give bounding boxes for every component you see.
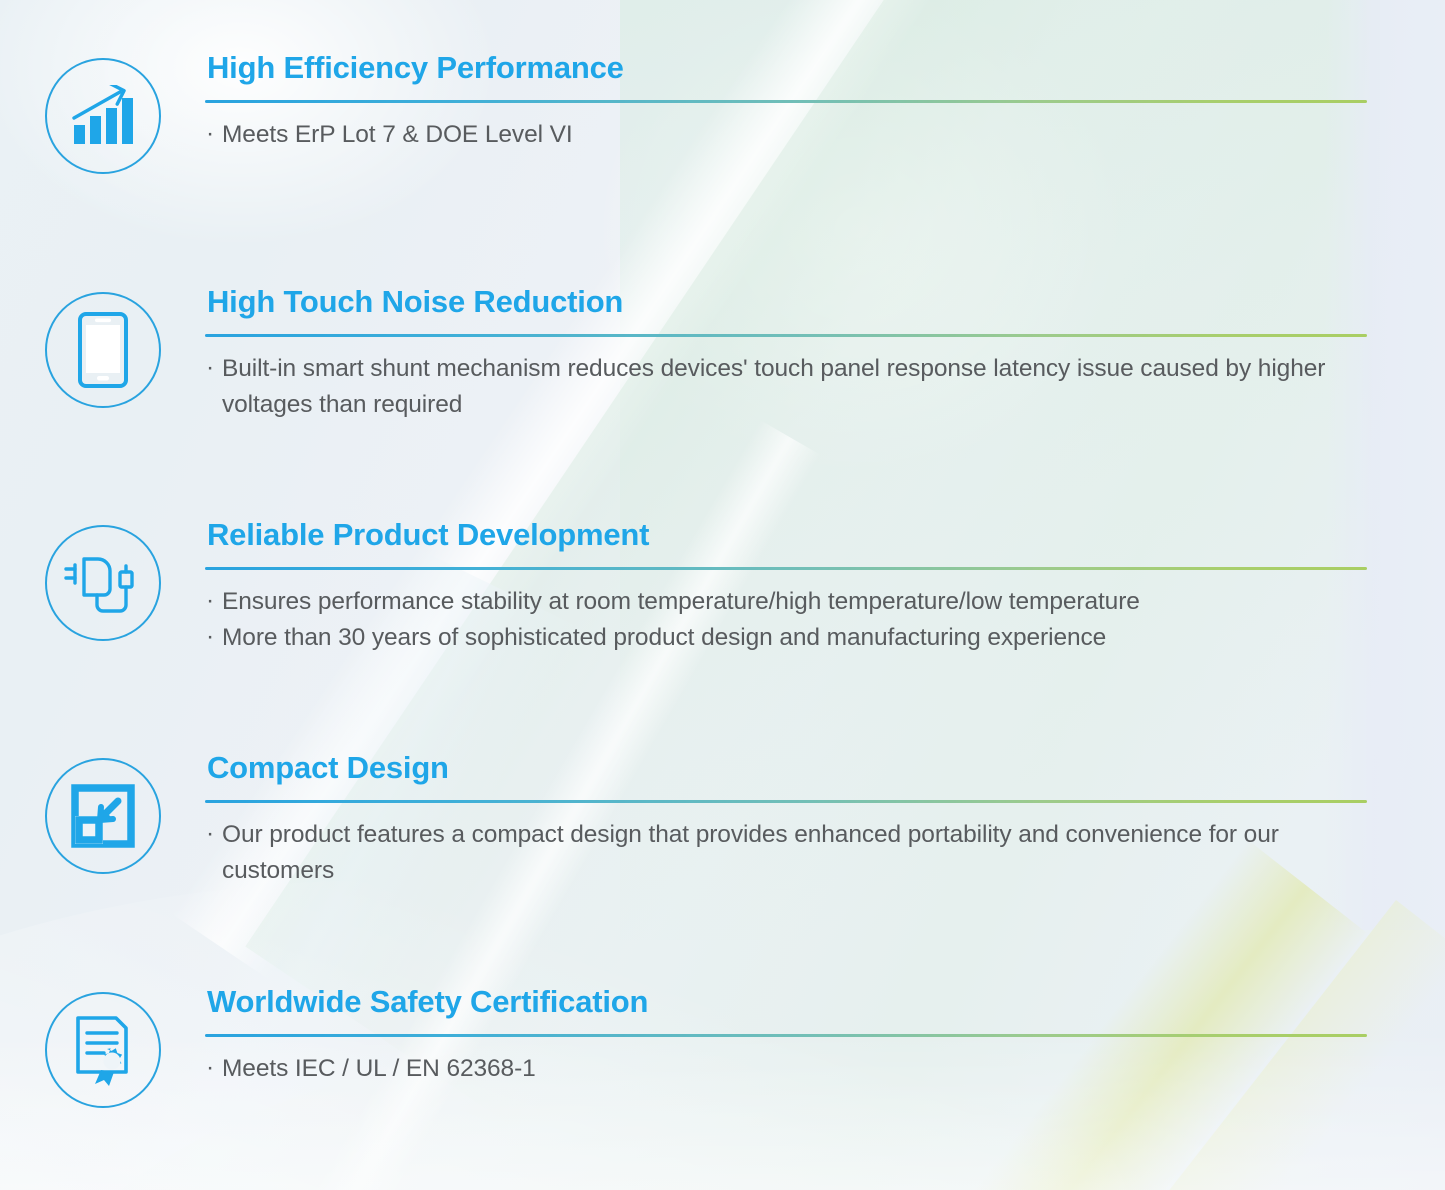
feature-icon-slot <box>0 52 205 174</box>
feature-text-block: Compact Design Our product features a co… <box>205 752 1445 889</box>
feature-bullet: Ensures performance stability at room te… <box>205 584 1367 620</box>
bar-chart-growth-icon <box>45 58 161 174</box>
feature-title: Compact Design <box>205 752 1367 800</box>
feature-icon-slot <box>0 752 205 874</box>
feature-icon-slot <box>0 519 205 641</box>
feature-highlights-page: High Efficiency Performance Meets ErP Lo… <box>0 0 1445 1190</box>
feature-title: High Efficiency Performance <box>205 52 1367 100</box>
feature-item-reliable-product-development: Reliable Product Development Ensures per… <box>0 519 1445 656</box>
feature-item-high-efficiency-performance: High Efficiency Performance Meets ErP Lo… <box>0 52 1445 174</box>
feature-text-block: Worldwide Safety Certification Meets IEC… <box>205 986 1445 1087</box>
certificate-seal-icon <box>45 992 161 1108</box>
feature-title: High Touch Noise Reduction <box>205 286 1367 334</box>
feature-bullet: Meets ErP Lot 7 & DOE Level VI <box>205 117 1367 153</box>
feature-icon-slot <box>0 286 205 408</box>
feature-icon-slot <box>0 986 205 1108</box>
feature-item-compact-design: Compact Design Our product features a co… <box>0 752 1445 889</box>
feature-bullet: More than 30 years of sophisticated prod… <box>205 620 1367 656</box>
feature-text-block: High Efficiency Performance Meets ErP Lo… <box>205 52 1445 153</box>
compact-resize-icon <box>45 758 161 874</box>
features-list: High Efficiency Performance Meets ErP Lo… <box>0 0 1445 1190</box>
feature-item-worldwide-safety-certification: Worldwide Safety Certification Meets IEC… <box>0 986 1445 1108</box>
feature-title: Reliable Product Development <box>205 519 1367 567</box>
feature-bullet-list: Ensures performance stability at room te… <box>205 570 1367 656</box>
feature-item-high-touch-noise-reduction: High Touch Noise Reduction Built-in smar… <box>0 286 1445 423</box>
feature-text-block: High Touch Noise Reduction Built-in smar… <box>205 286 1445 423</box>
feature-bullet: Built-in smart shunt mechanism reduces d… <box>205 351 1367 423</box>
feature-bullet-list: Meets IEC / UL / EN 62368-1 <box>205 1037 1367 1087</box>
feature-title: Worldwide Safety Certification <box>205 986 1367 1034</box>
feature-bullet: Meets IEC / UL / EN 62368-1 <box>205 1051 1367 1087</box>
feature-bullet-list: Meets ErP Lot 7 & DOE Level VI <box>205 103 1367 153</box>
feature-bullet-list: Our product features a compact design th… <box>205 803 1367 889</box>
power-adapter-icon <box>45 525 161 641</box>
feature-text-block: Reliable Product Development Ensures per… <box>205 519 1445 656</box>
smartphone-icon <box>45 292 161 408</box>
feature-bullet-list: Built-in smart shunt mechanism reduces d… <box>205 337 1367 423</box>
feature-bullet: Our product features a compact design th… <box>205 817 1367 889</box>
